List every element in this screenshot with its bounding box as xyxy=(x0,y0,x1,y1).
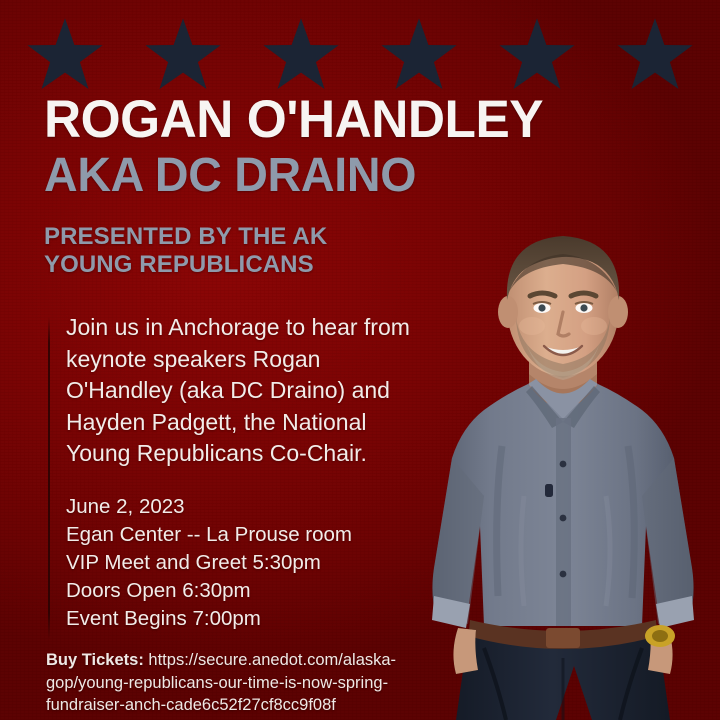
star-icon xyxy=(497,16,577,96)
detail-venue: Egan Center -- La Prouse room xyxy=(66,521,416,549)
detail-vip: VIP Meet and Greet 5:30pm xyxy=(66,549,416,577)
detail-date: June 2, 2023 xyxy=(66,493,416,521)
detail-doors: Doors Open 6:30pm xyxy=(66,577,416,605)
event-poster: ROGAN O'HANDLEY AKA DC DRAINO PRESENTED … xyxy=(0,0,720,720)
detail-start: Event Begins 7:00pm xyxy=(66,605,416,633)
star-icon xyxy=(25,16,105,96)
page-subtitle: AKA DC DRAINO xyxy=(44,150,684,202)
headline-block: ROGAN O'HANDLEY AKA DC DRAINO PRESENTED … xyxy=(44,92,704,279)
page-title: ROGAN O'HANDLEY xyxy=(44,92,684,148)
star-icon xyxy=(379,16,459,96)
star-icon xyxy=(143,16,223,96)
vertical-divider xyxy=(48,317,50,639)
event-details: June 2, 2023 Egan Center -- La Prouse ro… xyxy=(66,493,416,633)
star-icon xyxy=(261,16,341,96)
star-icon xyxy=(615,16,695,96)
intro-paragraph: Join us in Anchorage to hear from keynot… xyxy=(66,312,416,470)
presented-by-label: PRESENTED BY THE AK YOUNG REPUBLICANS xyxy=(44,223,374,279)
copy-block: Join us in Anchorage to hear from keynot… xyxy=(66,312,416,633)
buy-tickets-label: Buy Tickets: xyxy=(46,651,144,669)
buy-tickets-block[interactable]: Buy Tickets: https://secure.anedot.com/a… xyxy=(46,649,446,717)
star-row xyxy=(0,10,720,102)
